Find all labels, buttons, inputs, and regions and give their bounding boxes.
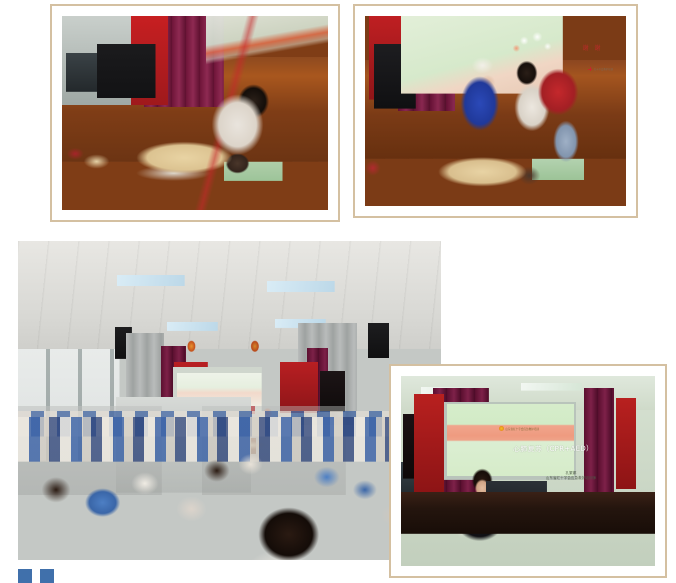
red-cross-icon	[588, 67, 592, 71]
photo-frame-auditorium-audience[interactable]	[18, 241, 441, 560]
slide-presenter-affiliation: 山东省红十字会应急救护培训师	[546, 476, 596, 481]
photo-frame-cpr-two-trainees[interactable]: 谢 谢 红十字会救护培训	[353, 4, 638, 218]
cpr-two-trainees-photo[interactable]: 谢 谢 红十字会救护培训	[365, 16, 626, 206]
cpr-single-rescuer-photo[interactable]	[62, 16, 328, 210]
slide-thanks-text: 谢 谢	[583, 43, 603, 52]
photo-frame-instructor-podium[interactable]: 山东省红十字会应急救护培训 心肺复苏（CPR+AED） 孔繁娜 山东省红十字会应…	[389, 364, 667, 578]
red-cross-logo: 红十字会救护培训	[588, 67, 613, 71]
pagination-markers	[18, 569, 54, 583]
photo-gallery: 谢 谢 红十字会救护培训 山东省红十字会应急救护培训 心肺复苏（CPR+AED）…	[0, 0, 676, 583]
instructor-podium-photo[interactable]: 山东省红十字会应急救护培训 心肺复苏（CPR+AED） 孔繁娜 山东省红十字会应…	[401, 376, 655, 566]
pagination-marker-1[interactable]	[18, 569, 32, 583]
auditorium-audience-photo[interactable]	[18, 241, 441, 560]
photo-frame-cpr-single-rescuer[interactable]	[50, 4, 340, 222]
slide-presenter-block: 孔繁娜 山东省红十字会应急救护培训师	[546, 471, 596, 482]
pagination-marker-2[interactable]	[40, 569, 54, 583]
slide-org-logo-label: 山东省红十字会应急救护培训	[505, 427, 539, 431]
slide-title: 心肺复苏（CPR+AED）	[513, 444, 593, 455]
red-cross-emblem-icon	[499, 426, 504, 431]
slide-org-logo: 山东省红十字会应急救护培训	[499, 426, 539, 431]
red-cross-logo-label: 红十字会救护培训	[594, 67, 613, 71]
